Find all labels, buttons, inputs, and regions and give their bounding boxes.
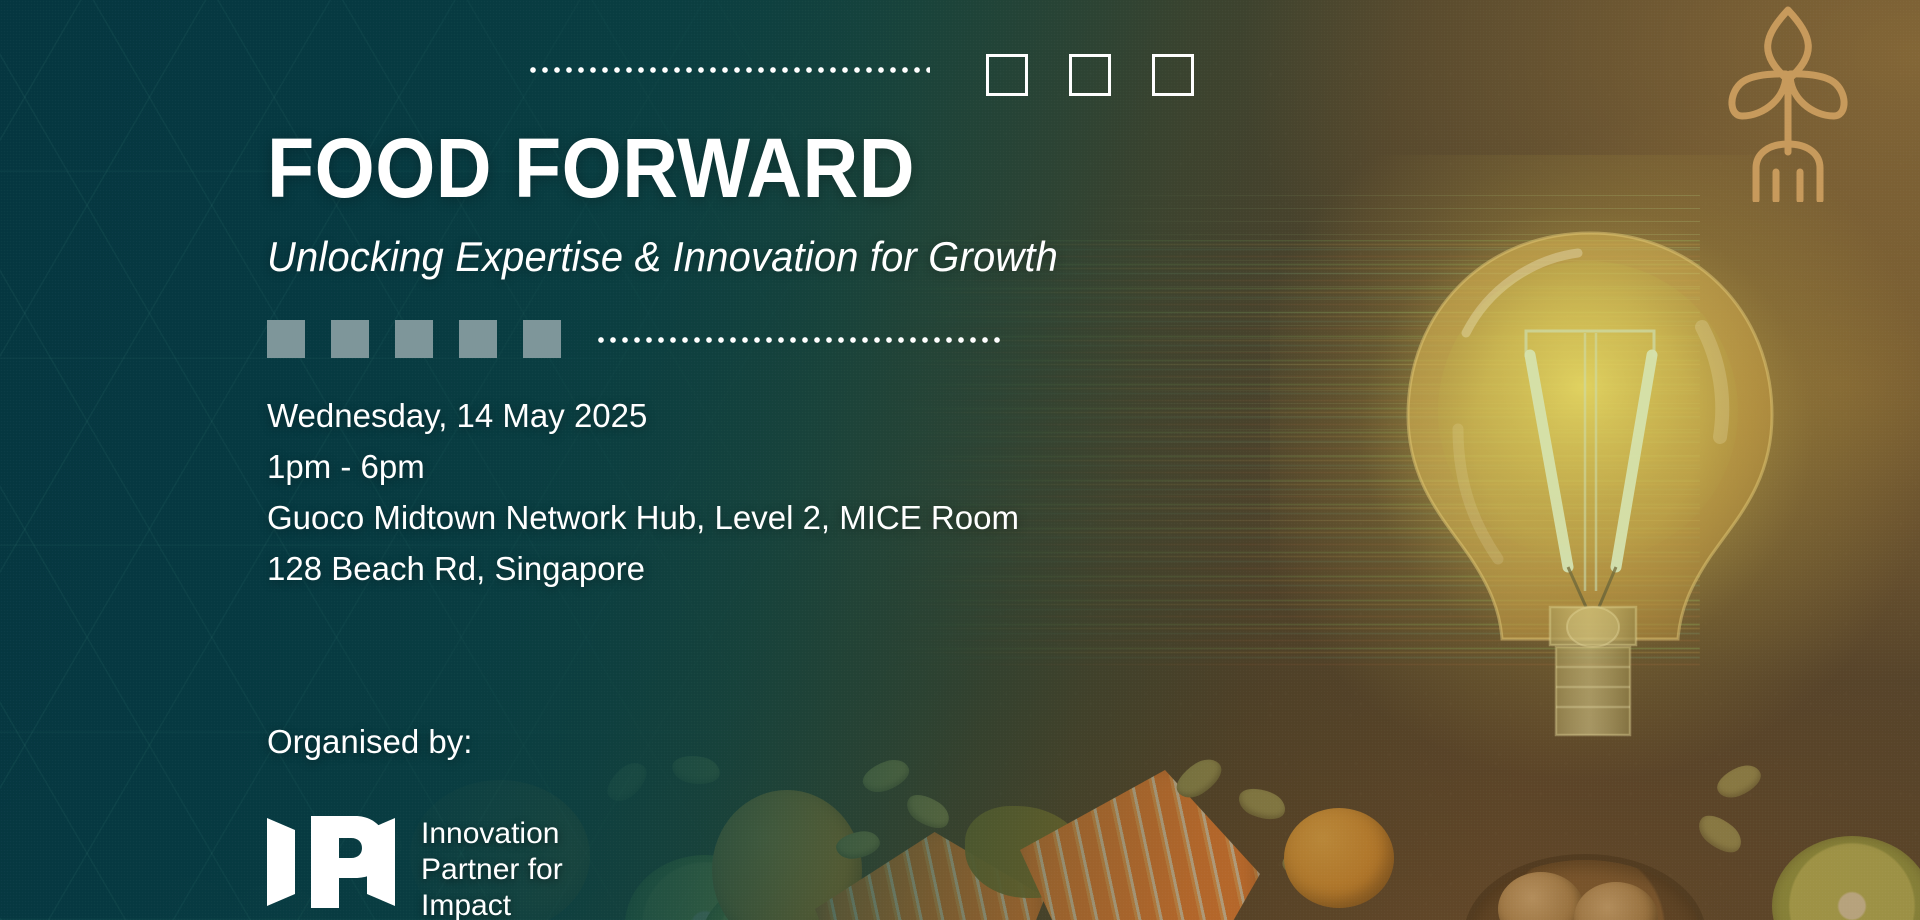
ipi-logo-mark <box>265 812 397 912</box>
tagline-line-3: Impact <box>421 888 563 920</box>
filled-square-3 <box>395 320 433 358</box>
filled-square-5 <box>523 320 561 358</box>
event-details: Wednesday, 14 May 2025 1pm - 6pm Guoco M… <box>267 390 1019 594</box>
ipi-logo-tagline: Innovation Partner for Impact <box>421 812 563 920</box>
outline-square-3 <box>1152 54 1194 96</box>
bulb-glow <box>1270 155 1920 815</box>
top-dotted-rule <box>527 66 930 74</box>
outline-squares-group <box>986 54 1194 96</box>
filled-square-1 <box>267 320 305 358</box>
mid-dotted-rule <box>595 336 1004 344</box>
event-date: Wednesday, 14 May 2025 <box>267 390 1019 441</box>
filled-square-4 <box>459 320 497 358</box>
sprout-fork-svg <box>1718 2 1858 202</box>
sprout-fork-icon <box>1718 2 1858 202</box>
event-address: 128 Beach Rd, Singapore <box>267 543 1019 594</box>
ipi-logo: Innovation Partner for Impact <box>265 812 563 920</box>
filled-squares-group <box>267 320 561 358</box>
organised-by-label: Organised by: <box>267 723 472 761</box>
event-banner: FOOD FORWARD Unlocking Expertise & Innov… <box>0 0 1920 920</box>
light-bulb-icon <box>1380 215 1800 775</box>
event-venue: Guoco Midtown Network Hub, Level 2, MICE… <box>267 492 1019 543</box>
page-title: FOOD FORWARD <box>267 126 915 210</box>
event-time: 1pm - 6pm <box>267 441 1019 492</box>
outline-square-1 <box>986 54 1028 96</box>
page-subtitle: Unlocking Expertise & Innovation for Gro… <box>267 234 1058 280</box>
tagline-line-1: Innovation <box>421 816 563 852</box>
banner-content: FOOD FORWARD Unlocking Expertise & Innov… <box>0 0 1100 920</box>
outline-square-2 <box>1069 54 1111 96</box>
tagline-line-2: Partner for <box>421 852 563 888</box>
filled-square-2 <box>331 320 369 358</box>
